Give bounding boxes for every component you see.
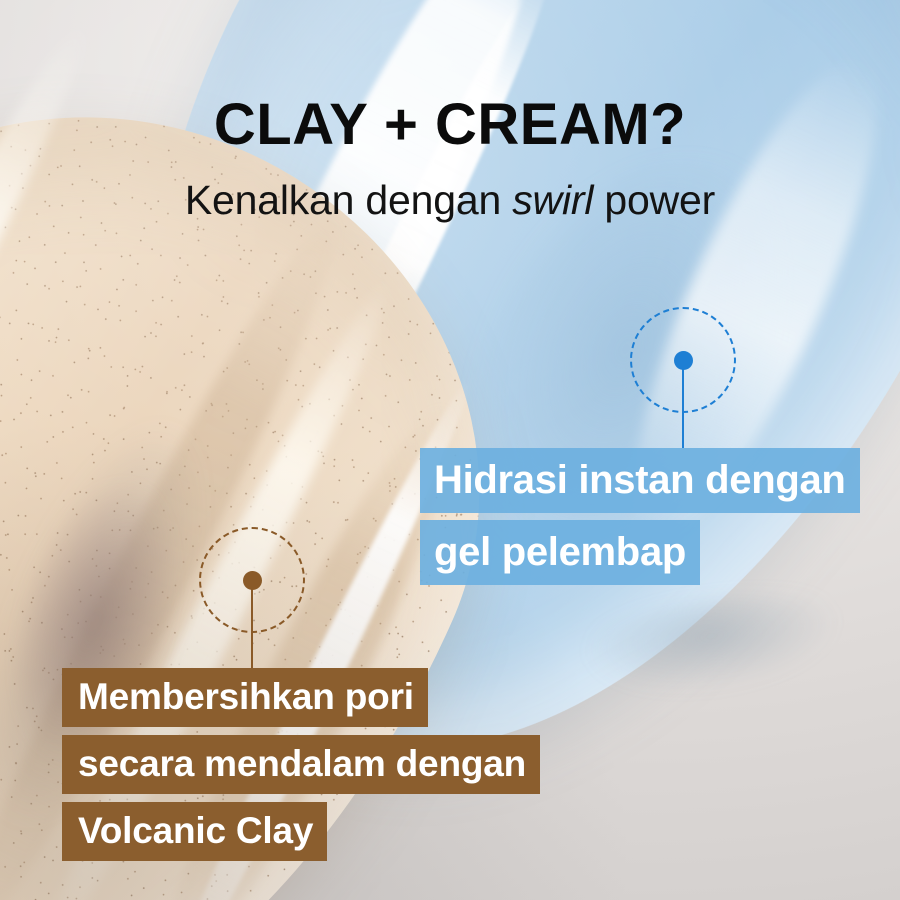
callout-hydration: Hidrasi instan dengan gel pelembap — [420, 448, 860, 592]
connector-line — [251, 580, 254, 668]
callout-line: gel pelembap — [420, 520, 700, 585]
callout-clay-cleansing: Membersihkan pori secara mendalam dengan… — [62, 668, 540, 869]
callout-line: Membersihkan pori — [62, 668, 428, 727]
product-promo-poster: CLAY + CREAM? Kenalkan dengan swirl powe… — [0, 0, 900, 900]
callout-line: Hidrasi instan dengan — [420, 448, 860, 513]
subtitle-emphasis: swirl — [512, 177, 593, 223]
callout-line: Volcanic Clay — [62, 802, 327, 861]
page-title: CLAY + CREAM? — [0, 96, 900, 154]
subtitle-text-after: power — [593, 177, 715, 223]
connector-line — [682, 360, 685, 448]
page-subtitle: Kenalkan dengan swirl power — [0, 178, 900, 224]
hotspot-dot-icon — [674, 351, 693, 370]
subtitle-text-before: Kenalkan dengan — [185, 177, 512, 223]
hotspot-dot-icon — [243, 571, 262, 590]
callout-line: secara mendalam dengan — [62, 735, 540, 794]
